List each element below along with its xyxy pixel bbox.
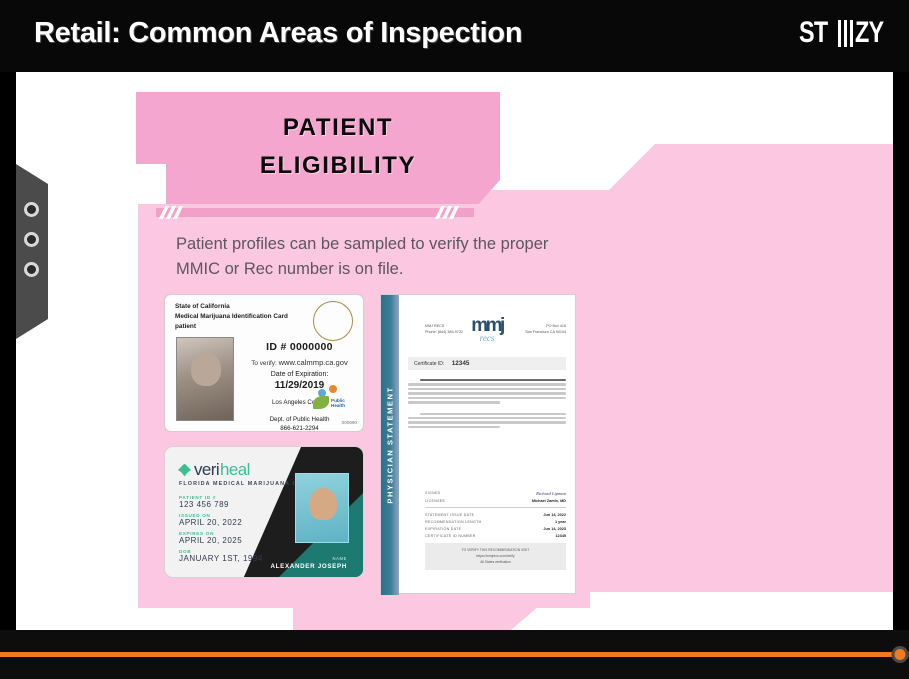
mmic-id-number: ID # 0000000 [241,341,358,353]
mmic-phone: 866-621-2294 [241,425,358,432]
dph-dot-orange [329,385,337,393]
document-spine: PHYSICIAN STATEMENT [381,295,399,595]
statement-page: mmj recs MMJ RECS Phone: (844) 386-9732 … [399,295,575,593]
veriheal-name-label: NAME [333,556,348,561]
field-label: SIGNED [425,491,441,496]
three-vertical-bars-icon [838,20,853,47]
text-line [408,426,500,428]
scrubber-handle-icon[interactable] [891,646,908,663]
statement-fine-print [429,571,562,576]
signature-row: EXPIRATION DATE Jun 14, 2023 [425,527,566,531]
field-value: 1 year [555,520,566,524]
veriheal-brand-part2: heal [220,460,250,480]
presentation-viewer: Retail: Common Areas of Inspection ST ZY… [0,0,909,679]
field-label: CERTIFICATE ID NUMBER [425,534,476,538]
statement-paragraph-2 [408,413,566,429]
mmic-verify-url: www.calmmp.ca.gov [279,358,348,367]
text-line [408,417,566,419]
veriheal-name-value: ALEXANDER JOSEPH [270,563,347,570]
slash-marks-right-icon [438,206,456,219]
veriheal-field-value: APRIL 20, 2025 [179,536,263,545]
cannabis-leaf-icon [178,464,191,477]
mmic-line-3: patient [175,322,325,332]
signature-row: LICENSEE Michael Zamin, MD [425,499,566,503]
field-value: Michael Zamin, MD [532,499,566,503]
content-card: Patient profiles can be sampled to verif… [138,204,590,608]
ring-hole [24,232,39,247]
text-line [408,421,566,423]
california-mmic-card: State of California Medical Marijuana Id… [164,294,364,432]
veriheal-field-value: JANUARY 1ST, 1994 [179,554,263,563]
veriheal-field-value: APRIL 20, 2022 [179,518,263,527]
field-label: STATEMENT ISSUE DATE [425,513,474,517]
card-body-text: Patient profiles can be sampled to verif… [176,232,566,282]
banner-line-1: PATIENT [283,109,393,146]
text-line [408,397,566,399]
field-value: 12345 [555,534,566,538]
public-health-logo-icon: Public Health [313,385,359,411]
contact-right-line-2: San Francisco CA 94104 [525,329,566,335]
patient-photo [176,337,234,421]
contact-left-line-2: Phone: (844) 386-9732 [425,329,463,335]
document-thumbnails: State of California Medical Marijuana Id… [164,294,576,594]
field-label: RECOMMENDATION LENGTH [425,520,482,524]
field-value: Jun 14, 2022 [543,513,566,517]
three-ring-holes-icon [16,164,58,339]
text-line [420,379,566,381]
text-line [408,383,566,385]
stiiizy-logo: ST ZY [799,16,891,50]
video-player-bar [0,630,909,679]
divider [425,507,566,508]
spine-label: PHYSICIAN STATEMENT [386,386,395,503]
signature-row: RECOMMENDATION LENGTH 1 year [425,520,566,524]
mmic-header-lines: State of California Medical Marijuana Id… [175,302,325,332]
cert-label: Certificate ID: [414,361,444,367]
signature-row: CERTIFICATE ID NUMBER 12345 [425,534,566,538]
veriheal-florida-mmj-card: veri heal FLORIDA MEDICAL MARIJUANA ID P… [164,446,364,578]
contact-left: MMJ RECS Phone: (844) 386-9732 [425,323,463,336]
mmic-line-2: Medical Marijuana Identification Card [175,312,325,322]
cert-value: 12345 [452,360,470,367]
section-banner: PATIENT ELIGIBILITY [136,92,500,207]
card-accent-stripe [156,208,474,217]
contact-right: PO Box 416 San Francisco CA 94104 [525,323,566,336]
veriheal-field-value: 123 456 789 [179,500,263,509]
slide-canvas: PATIENT ELIGIBILITY Patient profiles can… [16,72,893,630]
certificate-id-bar: Certificate ID: 12345 [408,357,566,370]
field-value: Richard Lipman [536,491,566,496]
banner-line-2: ELIGIBILITY [260,147,416,184]
text-line [408,392,566,394]
statement-paragraph-1 [408,379,566,404]
field-label: LICENSEE [425,499,445,503]
brand-trail-text: ZY [855,18,883,48]
slide-header-bar: Retail: Common Areas of Inspection ST ZY [0,0,909,72]
ring-hole [24,202,39,217]
text-line [420,413,566,415]
field-value: Jun 14, 2023 [543,527,566,531]
ring-hole [24,262,39,277]
slash-marks-left-icon [162,206,180,219]
statement-signature-fields: SIGNED Richard Lipman LICENSEE Michael Z… [425,491,566,541]
dph-label: Public Health [331,398,359,408]
field-label: EXPIRATION DATE [425,527,461,531]
statement-contact-meta: MMJ RECS Phone: (844) 386-9732 PO Box 41… [425,323,566,336]
mmic-line-1: State of California [175,302,325,312]
veriheal-brand-part1: veri [194,460,219,480]
veriheal-logo: veri heal [178,460,250,480]
page-title: Retail: Common Areas of Inspection [34,17,522,50]
mmic-verify-prefix: To verify: [251,360,277,367]
verify-recommendation-box: TO VERIFY THIS RECOMMENDATION VISIT http… [425,543,566,570]
signature-row: STATEMENT ISSUE DATE Jun 14, 2022 [425,513,566,517]
mmic-verify-line: To verify: www.calmmp.ca.gov [241,358,358,367]
veriheal-subtitle: FLORIDA MEDICAL MARIJUANA ID [179,481,300,487]
patient-headshot [295,473,349,543]
verify-line-3: All States verification [429,560,562,566]
text-line [408,388,566,390]
dph-leaf [313,396,329,409]
mmic-expiration-label: Date of Expiration: [241,371,358,378]
physician-statement-document: PHYSICIAN STATEMENT mmj recs MMJ RECS Ph… [380,294,576,594]
signature-row: SIGNED Richard Lipman [425,491,566,496]
progress-fill [0,652,900,657]
mmic-serial: 000690 [342,420,357,425]
veriheal-fields: PATIENT ID # 123 456 789 ISSUED ON APRIL… [179,495,263,567]
brand-lead-text: ST [799,18,827,48]
text-line [408,401,500,403]
mmic-department: Dept. of Public Health [241,415,358,425]
